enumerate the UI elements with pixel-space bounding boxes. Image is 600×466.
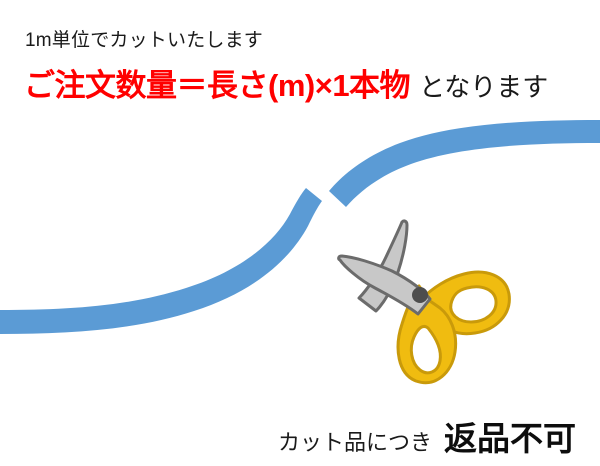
slide-canvas: 1m単位でカットいたします ご注文数量＝長さ(m)×1本物となります カット品に… — [0, 0, 600, 466]
scissors-clipart — [336, 216, 516, 392]
scissors-handle-upper-hole — [451, 287, 496, 322]
footer-note: カット品につき返品不可 — [278, 412, 576, 460]
ribbon-right-segment — [329, 120, 600, 207]
scissors-pivot-screw-icon — [412, 287, 428, 303]
headline-tail: となります — [419, 72, 548, 102]
ribbon-left-segment — [0, 188, 322, 334]
headline-line2: ご注文数量＝長さ(m)×1本物となります — [24, 68, 548, 105]
headline-line1: 1m単位でカットいたします — [25, 30, 263, 52]
headline-emphasis: ご注文数量＝長さ(m)×1本物 — [24, 68, 410, 103]
footer-note-small: カット品につき — [278, 430, 432, 455]
footer-note-emphasis: 返品不可 — [444, 420, 576, 457]
